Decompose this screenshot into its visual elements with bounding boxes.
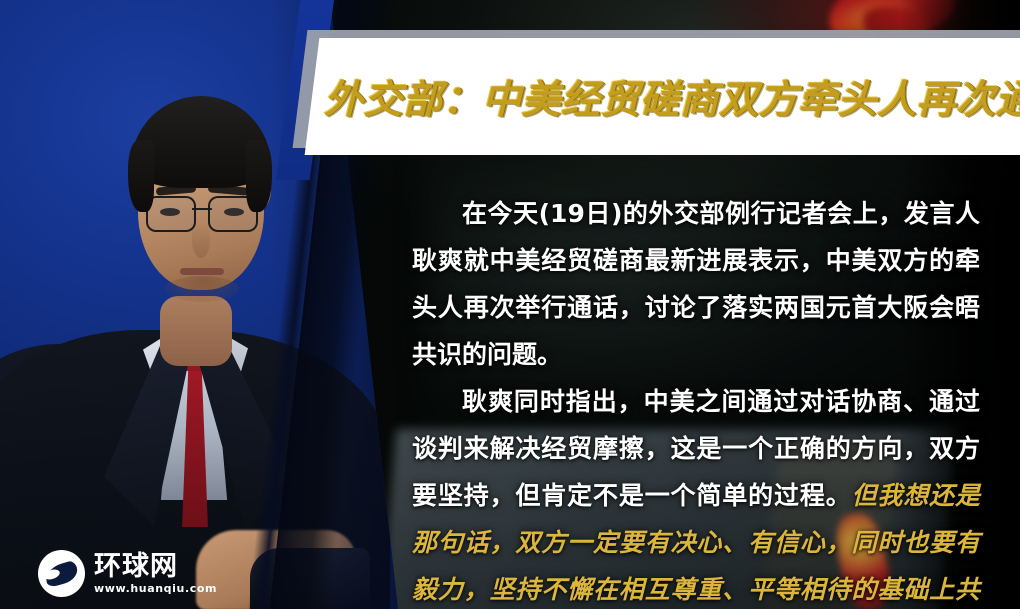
mouth	[180, 268, 224, 275]
logo-name: 环球网	[94, 553, 217, 580]
neck	[160, 296, 232, 366]
chin-shadow	[165, 276, 239, 302]
paragraph-2: 耿爽同时指出，中美之间通过对话协商、通过谈判来解决经贸摩擦，这是一个正确的方向，…	[412, 378, 980, 609]
site-logo[interactable]: 环球网 www.huanqiu.com	[38, 550, 217, 597]
globe-swoosh-icon	[38, 550, 85, 597]
lens-left	[146, 196, 196, 232]
news-graphic-canvas: 外交部：中美经贸磋商双方牵头人再次通话 在今天(19日)的外交部例行记者会上，发…	[0, 0, 1020, 609]
headline-title: 外交部：中美经贸磋商双方牵头人再次通话	[324, 69, 1020, 125]
article-body: 在今天(19日)的外交部例行记者会上，发言人耿爽就中美经贸磋商最新进展表示，中美…	[412, 190, 980, 609]
eyeglasses-icon	[146, 196, 258, 230]
paragraph-1: 在今天(19日)的外交部例行记者会上，发言人耿爽就中美经贸磋商最新进展表示，中美…	[412, 190, 980, 378]
hair-side-right	[246, 140, 272, 212]
title-banner-content: 外交部：中美经贸磋商双方牵头人再次通话	[312, 38, 1020, 155]
logo-text-block: 环球网 www.huanqiu.com	[94, 553, 217, 594]
hair-side-left	[128, 140, 154, 212]
logo-url: www.huanqiu.com	[94, 583, 217, 594]
paragraph-1-text: 在今天(19日)的外交部例行记者会上，发言人耿爽就中美经贸磋商最新进展表示，中美…	[412, 199, 980, 369]
